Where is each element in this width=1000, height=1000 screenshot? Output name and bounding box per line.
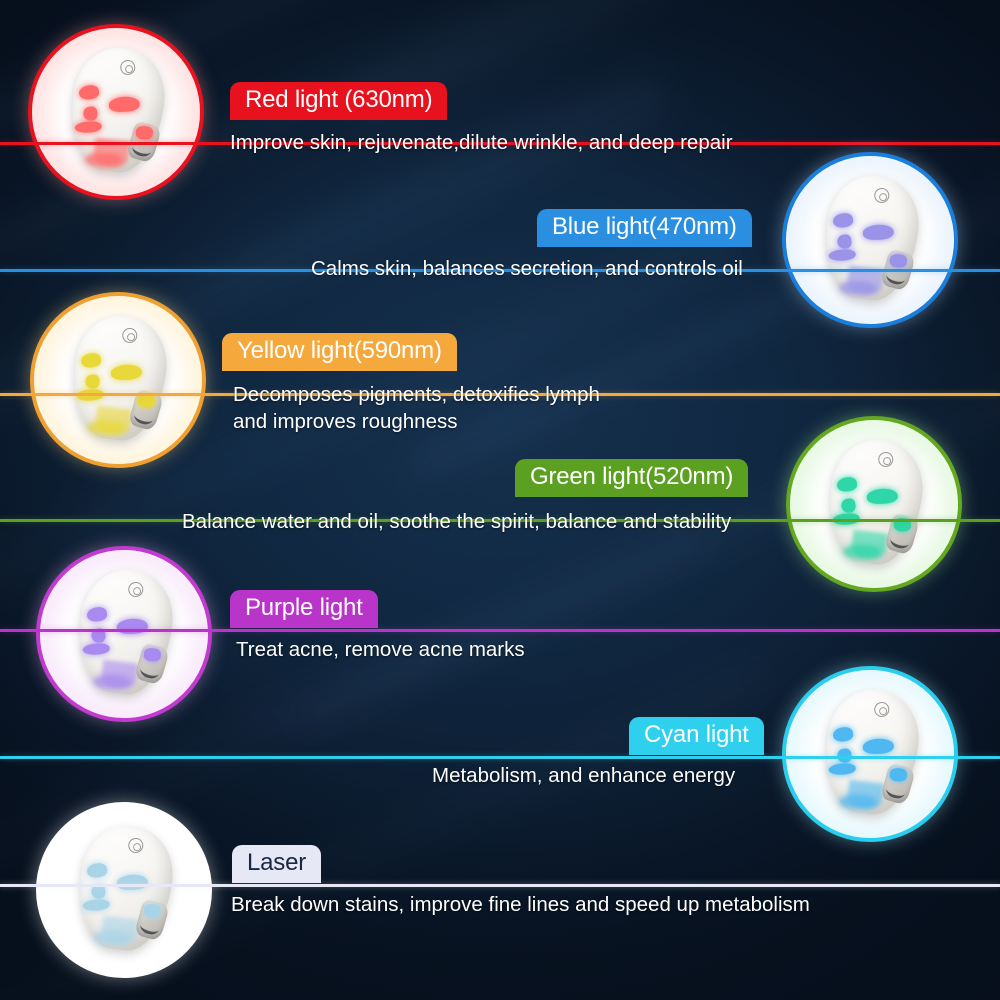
mask-ring-cyan [782,666,958,842]
mask-ring-red [28,24,204,200]
power-button-icon [874,701,891,718]
led-slot-eye [117,619,148,635]
mask-image-red [28,24,204,200]
mask-image-laser [36,802,212,978]
light-label-yellow[interactable]: Yellow light(590nm) [222,333,457,371]
led-slot-brow [833,726,855,743]
led-slot-nose [837,234,852,249]
power-button-icon [128,837,145,854]
light-description-blue: Calms skin, balances secretion, and cont… [311,255,743,282]
power-button-icon [122,327,139,344]
led-slot-eye [863,739,894,755]
light-description-laser: Break down stains, improve fine lines an… [231,891,810,918]
light-label-green[interactable]: Green light(520nm) [515,459,748,497]
led-slot-eye [863,225,894,241]
led-slot-mouth [82,643,110,656]
led-slot-nose [85,374,100,389]
separator-line-laser [0,884,1000,887]
collar-led [143,904,161,919]
light-label-red[interactable]: Red light (630nm) [230,82,447,120]
light-description-purple: Treat acne, remove acne marks [236,636,525,663]
led-slot-eye [117,875,148,891]
led-slot-nose [841,498,856,513]
power-button-icon [874,187,891,204]
power-button-icon [128,581,145,598]
led-slot-mouth [828,763,856,776]
mask-image-blue [782,152,958,328]
light-label-laser[interactable]: Laser [232,845,321,883]
led-slot-eye [111,365,142,381]
collar-led [135,126,153,141]
separator-line-purple [0,629,1000,632]
mask-image-green [786,416,962,592]
light-description-green: Balance water and oil, soothe the spirit… [182,508,731,535]
light-description-cyan: Metabolism, and enhance energy [432,762,735,789]
mask-image-yellow [30,292,206,468]
led-slot-brow [81,352,103,369]
led-slot-nose [83,106,98,121]
power-button-icon [878,451,895,468]
led-slot-mouth [82,899,110,912]
led-slot-brow [79,84,101,101]
led-slot-eye [867,489,898,505]
power-button-icon [120,59,137,76]
light-description-red: Improve skin, rejuvenate,dilute wrinkle,… [230,129,733,156]
mask-ring-green [786,416,962,592]
led-slot-brow [87,606,109,623]
mask-ring-purple [36,546,212,722]
mask-ring-blue [782,152,958,328]
led-slot-mouth [74,121,102,134]
led-slot-brow [87,862,109,879]
mask-image-purple [36,546,212,722]
light-label-blue[interactable]: Blue light(470nm) [537,209,752,247]
mask-ring-laser [36,802,212,978]
collar-led [889,254,907,269]
mask-image-cyan [782,666,958,842]
collar-led [143,648,161,663]
led-slot-brow [837,476,859,493]
led-slot-mouth [828,249,856,262]
light-description-yellow: Decomposes pigments, detoxifies lymph an… [233,381,600,435]
light-label-cyan[interactable]: Cyan light [629,717,764,755]
collar-led [889,768,907,783]
light-label-purple[interactable]: Purple light [230,590,378,628]
led-slot-brow [833,212,855,229]
led-slot-eye [109,97,140,113]
separator-line-cyan [0,756,1000,759]
mask-ring-yellow [30,292,206,468]
